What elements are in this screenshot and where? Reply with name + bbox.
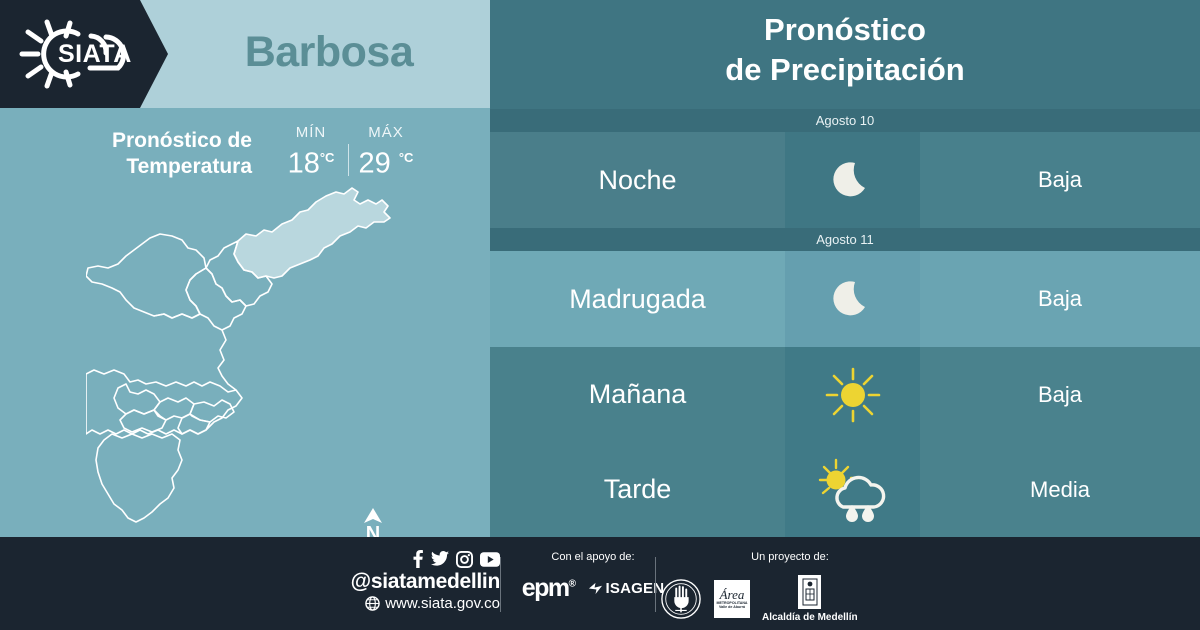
map-region-spine: [218, 330, 236, 390]
youtube-icon[interactable]: [480, 552, 500, 567]
city-name: Barbosa: [168, 0, 490, 104]
moon-icon: [785, 251, 920, 347]
sun-cloud-icon: SIATA: [14, 14, 152, 94]
footer: @siatamedellin www.siata.gov.co Con el a…: [0, 537, 1200, 630]
map-region-barbosa: [234, 188, 390, 278]
epm-logo: epm®: [522, 574, 575, 603]
forecast-period-label: Madrugada: [490, 251, 785, 347]
forecast-level-label: Media: [920, 442, 1200, 537]
forecast-row-tarde: Tarde Media: [490, 442, 1200, 537]
precipitation-title: Pronóstico de Precipitación: [490, 10, 1200, 90]
siata-logo-banner: SIATA: [0, 0, 168, 108]
date-band-second: Agosto 11: [490, 228, 1200, 251]
forecast-row-manana: Mañana Baja: [490, 347, 1200, 442]
forecast-level-label: Baja: [920, 132, 1200, 228]
area-logo-script: Área: [720, 589, 745, 601]
precipitation-panel: Pronóstico de Precipitación Agosto 10 No…: [490, 0, 1200, 537]
forecast-period-label: Mañana: [490, 347, 785, 442]
alcaldia-label: Alcaldía de Medellín: [762, 612, 858, 623]
project-caption-block: Un proyecto de:: [700, 551, 880, 563]
globe-icon: [365, 596, 380, 611]
forecast-period-label: Tarde: [490, 442, 785, 537]
temperature-title-line2: Temperatura: [60, 154, 252, 180]
alcaldia-crest-icon: [798, 575, 821, 609]
municipality-map-svg: [86, 178, 416, 533]
forecast-row-noche: Noche Baja: [490, 132, 1200, 228]
forecast-level-label: Baja: [920, 251, 1200, 347]
twitter-icon[interactable]: [431, 550, 449, 568]
social-handle[interactable]: @siatamedellin: [300, 569, 500, 594]
support-logos: epm® ISAGEN: [513, 574, 673, 603]
forecast-period-label: Noche: [490, 132, 785, 228]
website-url: www.siata.gov.co: [385, 594, 500, 613]
temperature-min: MÍN 18°C: [274, 124, 348, 180]
precipitation-title-line1: Pronóstico: [490, 10, 1200, 50]
moon-icon: [785, 132, 920, 228]
alcaldia-logo-group: Alcaldía de Medellín: [762, 575, 858, 623]
project-caption: Un proyecto de:: [700, 551, 880, 563]
map-region-sabaneta: [178, 414, 210, 434]
website-line[interactable]: www.siata.gov.co: [300, 594, 500, 613]
facebook-icon[interactable]: [411, 550, 424, 568]
temperature-max-label: MÁX: [368, 124, 404, 141]
area-logo-sub2: Valle de Aburrá: [719, 605, 745, 609]
sun-icon: [785, 347, 920, 442]
instagram-icon[interactable]: [456, 551, 473, 568]
map-region-la-estrella: [120, 410, 166, 432]
temperature-panel: SIATA Barbosa Pronóstico de Temperatura …: [0, 0, 490, 537]
temperature-title: Pronóstico de Temperatura: [60, 122, 252, 180]
footer-divider-2: [655, 557, 656, 612]
map-region-bello: [86, 234, 206, 318]
temperature-values: MÍN 18°C MÁX 29 °C: [274, 122, 423, 180]
social-icons: [300, 549, 500, 569]
sun-rain-cloud-icon: [785, 442, 920, 537]
date-band-first: Agosto 10: [490, 109, 1200, 132]
forecast-row-madrugada: Madrugada Baja: [490, 251, 1200, 347]
temperature-max: MÁX 29 °C: [349, 124, 423, 180]
weather-forecast-poster: SIATA Barbosa Pronóstico de Temperatura …: [0, 0, 1200, 630]
valle-de-aburra-map: N: [86, 178, 416, 533]
map-region-caldas: [96, 434, 182, 522]
support-caption: Con el apoyo de:: [513, 551, 673, 563]
social-block: @siatamedellin www.siata.gov.co: [300, 549, 500, 613]
forecast-level-label: Baja: [920, 347, 1200, 442]
universidad-seal-icon: [660, 578, 702, 620]
north-arrow-icon: [363, 508, 383, 524]
isagen-logo: ISAGEN: [588, 580, 665, 597]
isagen-mark-icon: [588, 581, 603, 596]
temperature-title-line1: Pronóstico de: [60, 128, 252, 154]
temperature-min-value: 18°C: [288, 142, 335, 180]
map-boundary-extra: [154, 306, 200, 318]
logo-wordmark: SIATA: [58, 40, 132, 68]
temperature-summary: Pronóstico de Temperatura MÍN 18°C MÁX 2…: [60, 122, 450, 184]
precipitation-title-line2: de Precipitación: [490, 50, 1200, 90]
temperature-min-label: MÍN: [296, 124, 327, 141]
map-region-copacabana: [186, 268, 246, 330]
area-metropolitana-logo: Área METROPOLITANA Valle de Aburrá: [714, 580, 750, 618]
support-block: Con el apoyo de: epm® ISAGEN: [513, 551, 673, 603]
footer-divider-1: [500, 557, 501, 612]
project-logos: Área METROPOLITANA Valle de Aburrá Alcal…: [660, 575, 890, 623]
temperature-max-value: 29 °C: [359, 142, 414, 180]
